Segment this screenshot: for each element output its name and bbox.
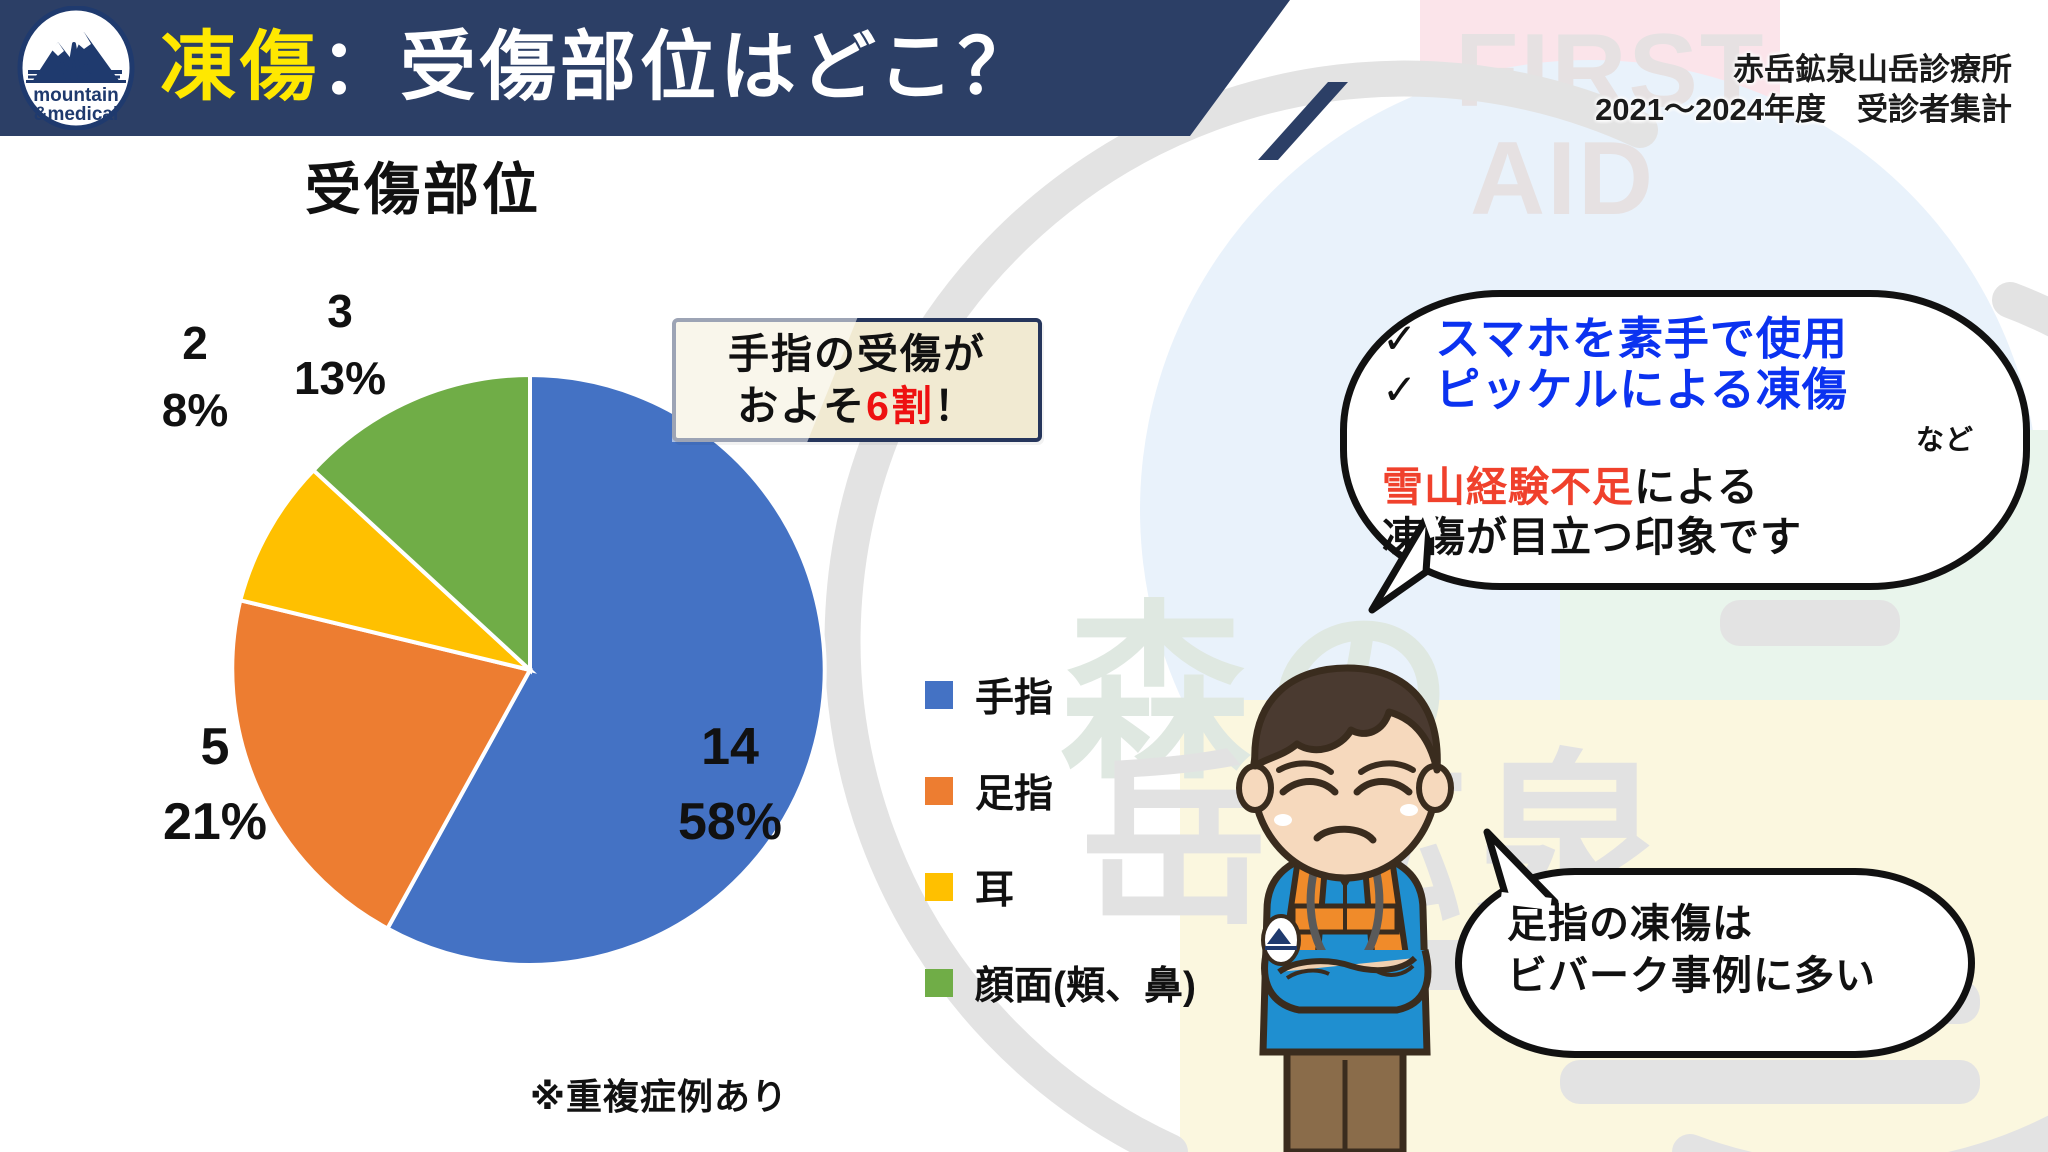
credit-line-2: 2021〜2024年度 受診者集計: [1595, 90, 2012, 130]
checklist-label-0: スマホを素手で使用: [1435, 316, 1848, 361]
pie-label-3-percent: 13%: [260, 345, 420, 412]
callout-text: 手指の受傷が およそ6割！: [672, 318, 1042, 442]
checklist-item-0: ✓ スマホを素手で使用: [1382, 316, 2008, 361]
legend-swatch-1: [925, 777, 953, 805]
page-title: 凍傷：受傷部位はどこ？: [160, 18, 1038, 118]
checklist-label-1: ピッケルによる凍傷: [1435, 367, 1848, 412]
pie-label-0: 14 58%: [640, 710, 820, 861]
pie-label-3-value: 3: [260, 278, 420, 345]
pie-label-2-percent: 8%: [130, 377, 260, 444]
checklist-suffix: など: [1382, 418, 1974, 458]
callout-line-2-highlight: 6割: [866, 383, 934, 429]
legend-item-3[interactable]: 顔面(頬、鼻): [925, 948, 1196, 1018]
callout-line-2-post: ！: [934, 383, 977, 429]
pie-label-0-percent: 58%: [640, 785, 820, 860]
legend-item-2[interactable]: 耳: [925, 852, 1196, 922]
logo-line1: mountain: [33, 85, 119, 106]
credit-line-1: 赤岳鉱泉山岳診療所: [1595, 50, 2012, 90]
chart-footnote: ※重複症例あり: [530, 1068, 788, 1120]
bubble2-line-2: ビバーク事例に多い: [1507, 950, 1876, 1002]
chart-legend: 手指 足指 耳 顔面(頬、鼻): [925, 660, 1196, 1044]
callout-line-1: 手指の受傷が: [728, 328, 986, 380]
legend-item-1[interactable]: 足指: [925, 756, 1196, 826]
pie-label-1: 5 21%: [125, 710, 305, 861]
pie-label-1-percent: 21%: [125, 785, 305, 860]
legend-swatch-2: [925, 873, 953, 901]
logo-line2: &medical: [34, 104, 118, 125]
legend-label-1: 足指: [975, 763, 1053, 819]
bubble1-rest-text: による: [1634, 464, 1759, 510]
pie-label-3: 3 13%: [260, 278, 420, 411]
legend-swatch-3: [925, 969, 953, 997]
check-icon: ✓: [1382, 369, 1417, 411]
page-title-rest: ：受傷部位はどこ？: [320, 25, 1038, 110]
bubble1-line-1: 雪山経験不足による: [1382, 462, 2008, 512]
bubble-tail-icon: [1364, 506, 1444, 616]
legend-swatch-0: [925, 681, 953, 709]
organization-credit: 赤岳鉱泉山岳診療所 2021〜2024年度 受診者集計: [1595, 50, 2012, 131]
highlight-callout: 手指の受傷が およそ6割！: [672, 318, 1042, 442]
legend-label-3: 顔面(頬、鼻): [975, 955, 1196, 1011]
pie-label-2: 2 8%: [130, 310, 260, 443]
pie-label-1-value: 5: [125, 710, 305, 785]
mountain-medical-logo: mountain &medical: [14, 6, 138, 130]
bubble1-red-text: 雪山経験不足: [1382, 464, 1634, 510]
speech-bubble-toes: 足指の凍傷は ビバーク事例に多い: [1455, 868, 1975, 1058]
checklist-item-1: ✓ ピッケルによる凍傷: [1382, 367, 2008, 412]
callout-line-2: およそ6割！: [737, 380, 977, 432]
legend-label-2: 耳: [975, 859, 1014, 915]
chart-title: 受傷部位: [305, 145, 541, 226]
legend-label-0: 手指: [975, 667, 1053, 723]
bubble-content: ✓ スマホを素手で使用 ✓ ピッケルによる凍傷 など 雪山経験不足による 凍傷が…: [1382, 316, 2008, 562]
callout-line-2-pre: およそ: [737, 383, 866, 429]
legend-item-0[interactable]: 手指: [925, 660, 1196, 730]
bubble-tail-icon: [1477, 824, 1567, 914]
pie-label-2-value: 2: [130, 310, 260, 377]
pie-label-0-value: 14: [640, 710, 820, 785]
speech-bubble-causes: ✓ スマホを素手で使用 ✓ ピッケルによる凍傷 など 雪山経験不足による 凍傷が…: [1340, 290, 2030, 590]
check-icon: ✓: [1382, 318, 1417, 360]
page-title-highlight: 凍傷: [160, 25, 320, 110]
bubble1-line-2: 凍傷が目立つ印象です: [1382, 512, 2008, 562]
